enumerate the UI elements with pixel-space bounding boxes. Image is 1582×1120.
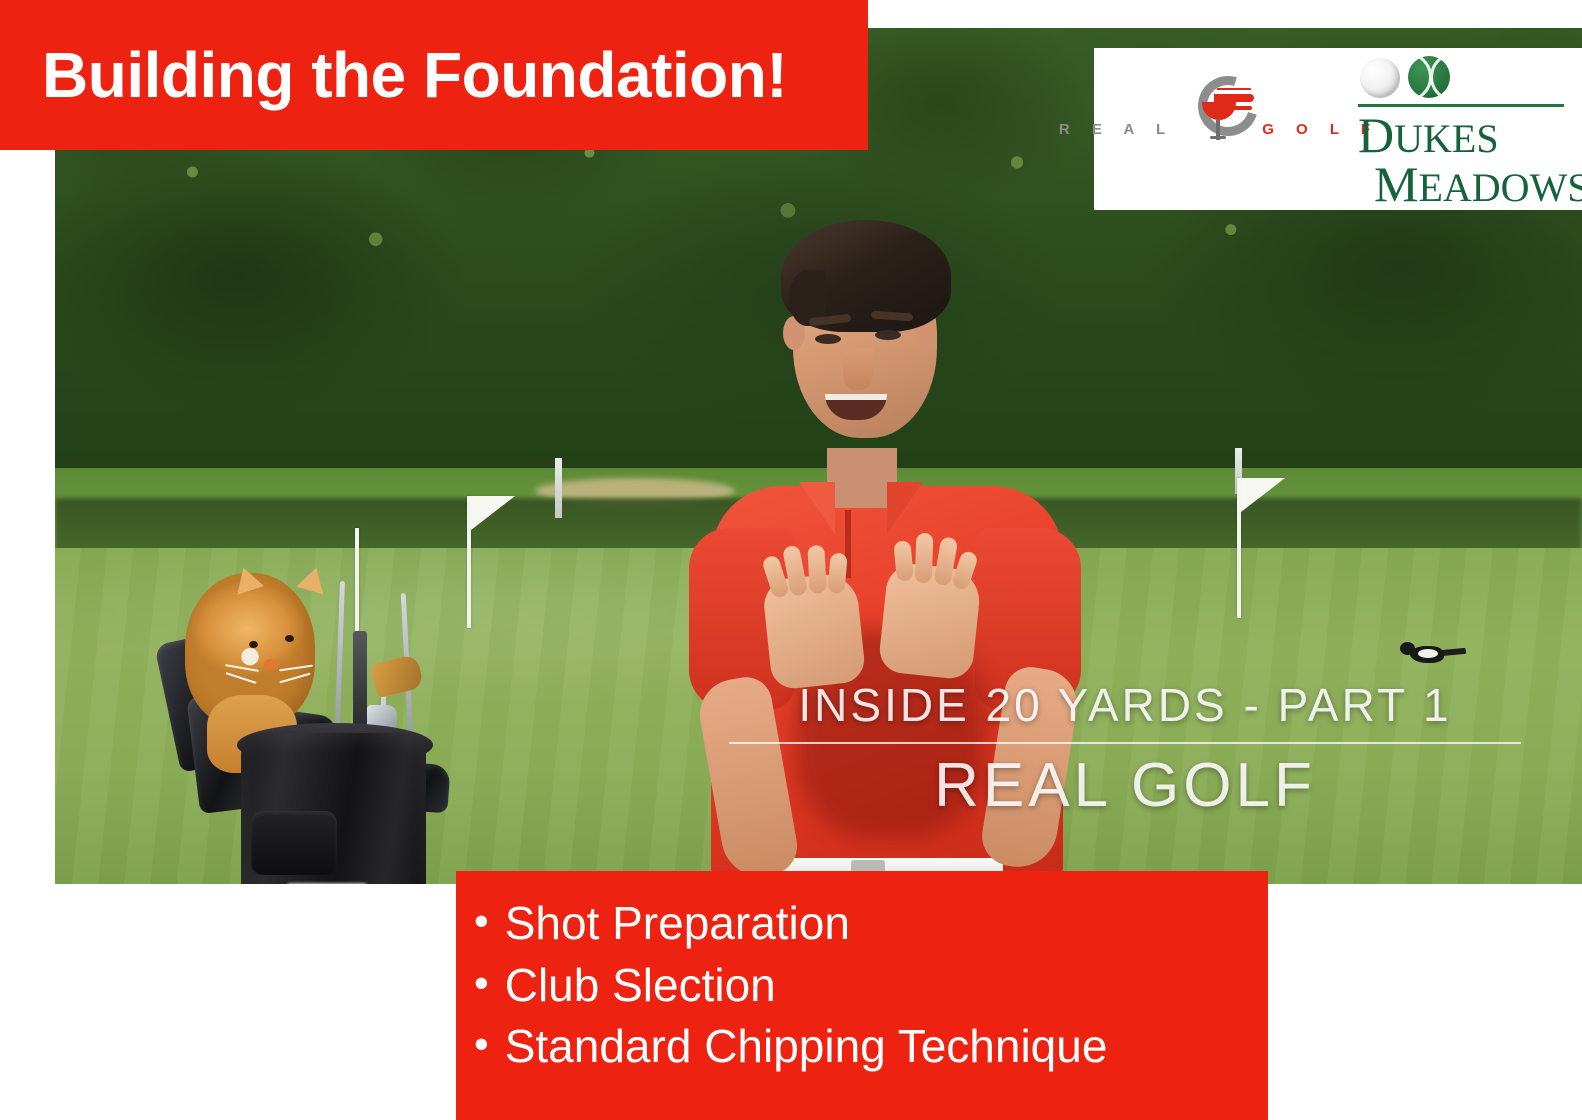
dukes-rest-ukes: UKES bbox=[1394, 116, 1498, 161]
dukes-line-2: MEADOWS bbox=[1374, 160, 1574, 209]
collar-left bbox=[799, 482, 835, 534]
bullet-label: Standard Chipping Technique bbox=[505, 1016, 1108, 1078]
tennis-ball-icon bbox=[1408, 56, 1450, 98]
golf-bag-group bbox=[155, 573, 445, 884]
cat-eye-left bbox=[249, 641, 258, 648]
golf-bag-pocket bbox=[251, 811, 337, 875]
dukes-cap-d: D bbox=[1358, 107, 1394, 163]
slide-root: INSIDE 20 YARDS - PART 1 REAL GOLF R E A… bbox=[0, 0, 1582, 1120]
finger bbox=[893, 540, 913, 581]
real-golf-g-icon bbox=[1192, 76, 1254, 142]
flag-cloth bbox=[471, 496, 515, 530]
bird-head bbox=[1400, 642, 1415, 655]
golf-ball-icon bbox=[1360, 58, 1400, 98]
bullet-list-panel: • Shot Preparation • Club Slection • Sta… bbox=[456, 871, 1268, 1120]
g-wing-icon bbox=[1214, 94, 1254, 102]
dukes-line-1: DUKES bbox=[1358, 111, 1574, 160]
sponsor-logo-panel: R E A L G O L F DUKES MEADOWS bbox=[1094, 48, 1582, 210]
cat-whisker bbox=[279, 665, 313, 672]
nose bbox=[843, 348, 873, 390]
pin-flag-left bbox=[467, 496, 515, 628]
golf-bag-brand-mark bbox=[287, 883, 367, 884]
hand-left bbox=[762, 571, 867, 690]
bird-wing bbox=[1418, 649, 1438, 658]
bullet-icon: • bbox=[474, 962, 489, 1004]
magpie-bird bbox=[1400, 640, 1466, 666]
pin-flag-right bbox=[1237, 478, 1283, 618]
title-banner: Building the Foundation! bbox=[0, 0, 868, 150]
finger bbox=[915, 533, 934, 584]
collar-right bbox=[887, 482, 923, 534]
bullet-label: Shot Preparation bbox=[505, 893, 850, 955]
bullet-icon: • bbox=[474, 1023, 489, 1065]
bullet-icon: • bbox=[474, 900, 489, 942]
wood-club-head bbox=[370, 654, 425, 699]
golf-tee-icon bbox=[1216, 120, 1220, 140]
eye-right bbox=[875, 330, 901, 340]
cat-whisker bbox=[279, 673, 310, 684]
finger bbox=[807, 545, 826, 594]
cat-whisker bbox=[225, 672, 256, 684]
real-golf-word-real: R E A L bbox=[1059, 121, 1174, 138]
post-left bbox=[555, 458, 562, 518]
dukes-cap-m: M bbox=[1374, 156, 1418, 212]
list-item: • Club Slection bbox=[456, 955, 1268, 1017]
list-item: • Standard Chipping Technique bbox=[456, 1016, 1268, 1078]
dukes-meadows-wordmark: DUKES MEADOWS bbox=[1358, 111, 1574, 209]
hand-right bbox=[878, 561, 983, 680]
real-golf-logo: R E A L G O L F bbox=[1094, 48, 1344, 210]
finger bbox=[827, 553, 847, 594]
dukes-rest-eadows: EADOWS bbox=[1418, 165, 1582, 210]
list-item: • Shot Preparation bbox=[456, 893, 1268, 955]
cat-eye-right bbox=[285, 635, 294, 642]
dukes-balls-icons bbox=[1360, 54, 1574, 102]
hair bbox=[781, 220, 951, 332]
cat-nose bbox=[264, 659, 279, 669]
cat-whisker bbox=[225, 664, 259, 672]
golf-instructor bbox=[675, 198, 1095, 884]
page-title: Building the Foundation! bbox=[42, 38, 787, 112]
flag-cloth bbox=[1241, 478, 1285, 512]
eye-left bbox=[815, 334, 841, 344]
dukes-meadows-logo: DUKES MEADOWS bbox=[1344, 48, 1574, 210]
bullet-label: Club Slection bbox=[505, 955, 776, 1017]
